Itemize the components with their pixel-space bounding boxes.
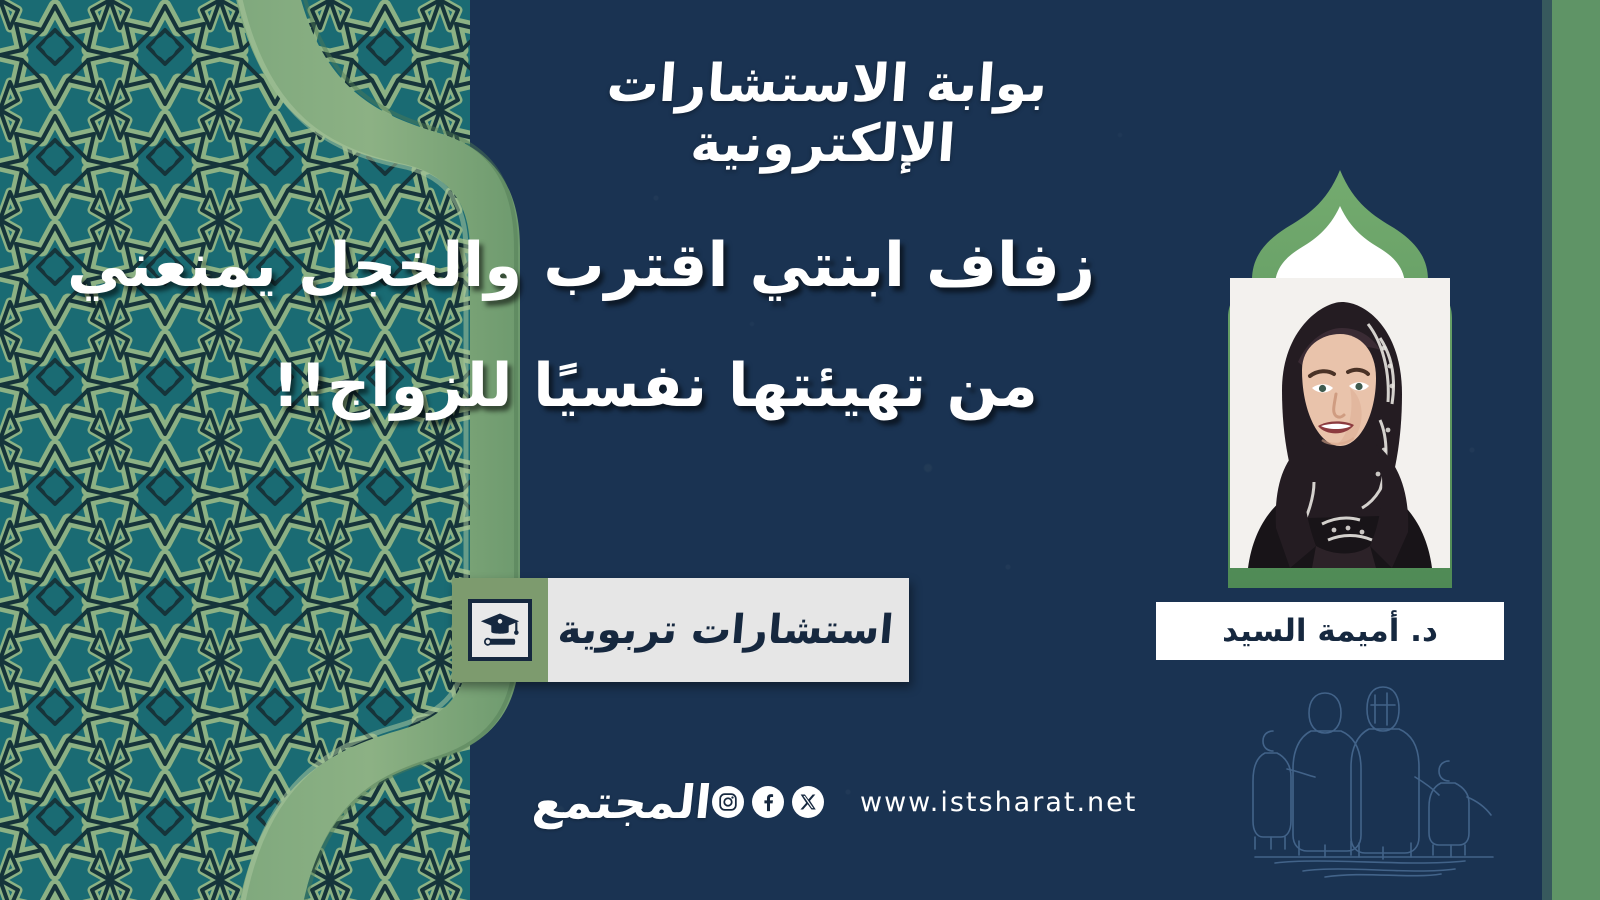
doctor-nameplate: د. أميمة السيد [1156,602,1504,660]
badge-label-wrap: استشارات تربوية [548,578,909,682]
islamic-pattern-panel [0,0,470,900]
footer-bar: المجتمع www.istsharat.net [555,752,1215,852]
x-twitter-icon[interactable] [792,786,824,818]
article-title: زفاف ابنتي اقترب والخجل يمنعني من تهيئته… [215,235,1095,416]
title-line-1: زفاف ابنتي اقترب والخجل يمنعني [215,235,1095,296]
poster-canvas: بوابة الاستشارات الإلكترونية زفاف ابنتي … [0,0,1600,900]
almujtama-logo: المجتمع [555,756,690,848]
right-edge-green-strip [1552,0,1600,900]
facebook-icon[interactable] [752,786,784,818]
graduation-cap-book-icon [472,603,528,657]
site-calligraphy-text: بوابة الاستشارات الإلكترونية [501,55,1149,175]
badge-label: استشارات تربوية [556,607,895,653]
website-url[interactable]: www.istsharat.net [860,787,1137,818]
right-edge-green-accent [1542,0,1552,900]
doctor-name: د. أميمة السيد [1222,613,1438,649]
badge-icon-inner-frame [468,599,532,661]
badge-icon-frame [452,578,548,682]
doctor-portrait [1230,278,1450,568]
instagram-icon[interactable] [712,786,744,818]
title-line-2: من تهيئتها نفسيًا للزواج!! [215,356,1095,416]
doctor-card: د. أميمة السيد [1170,168,1510,638]
category-badge[interactable]: استشارات تربوية [452,578,909,682]
family-silhouette-icon [1215,665,1515,880]
site-calligraphy-header: بوابة الاستشارات الإلكترونية [505,40,1145,190]
almujtama-logo-text: المجتمع [531,775,715,829]
social-links [712,786,824,818]
